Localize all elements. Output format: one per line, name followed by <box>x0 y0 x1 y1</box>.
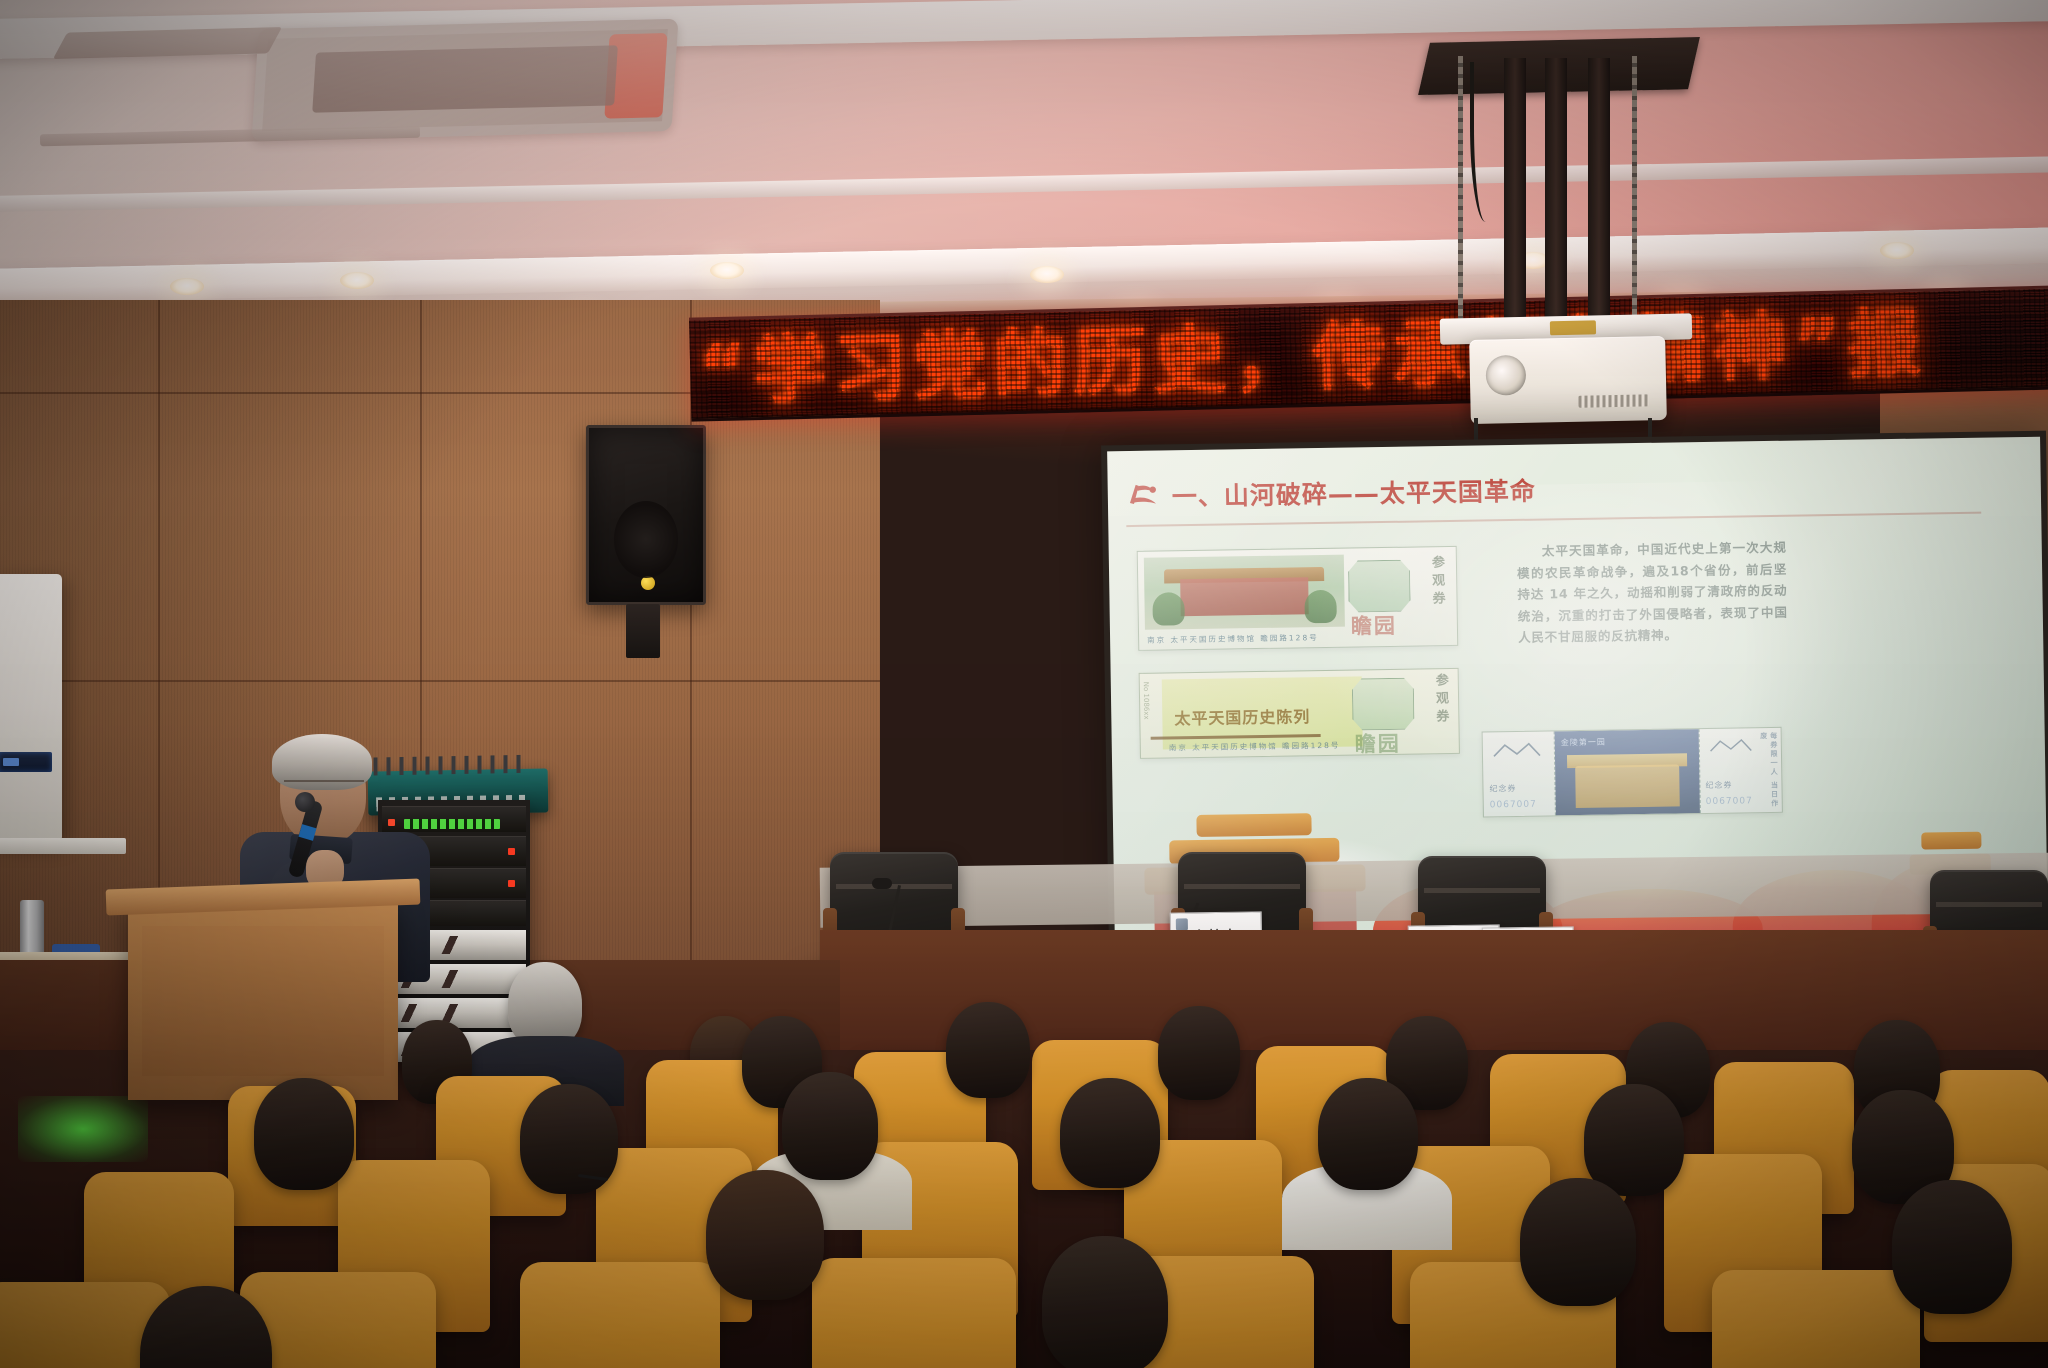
ceiling-seam <box>40 126 420 147</box>
projector-lens-icon <box>1485 355 1526 396</box>
lecture-hall-scene: “学习党的历史，传承红色精神”报 <box>0 0 2048 1368</box>
projector-lift-column <box>1504 58 1526 326</box>
slide-title: 一、山河破碎——太平天国革命 <box>1172 472 1537 514</box>
projector-lift-column <box>1545 58 1567 326</box>
pagoda-roof <box>1921 832 1981 850</box>
ticket-octagon-vignette <box>1352 678 1415 731</box>
lectern-front-panel <box>142 926 384 1076</box>
auditorium-seat[interactable] <box>812 1258 1016 1368</box>
ac-vent-blade <box>604 33 667 119</box>
status-led-icon <box>508 880 515 887</box>
microphone-capsule-icon <box>295 792 315 812</box>
projector-suspension-cable <box>1458 56 1463 326</box>
gate-shape <box>1180 577 1309 616</box>
panel-seam <box>158 300 160 980</box>
auditorium-seat[interactable] <box>1712 1270 1920 1368</box>
tree-shape <box>1152 592 1185 626</box>
downlight-icon <box>710 262 744 279</box>
museum-logo-icon <box>1491 740 1543 759</box>
status-led-icon <box>508 848 515 855</box>
ticket-script-label: 太平天国历史陈列 <box>1174 703 1310 729</box>
audience-head <box>946 1002 1030 1098</box>
lectern-podium <box>128 900 398 1100</box>
ticket-octagon-vignette <box>1348 560 1411 613</box>
downlight-icon <box>1880 242 1914 259</box>
wall-water-boiler[interactable] <box>0 574 62 842</box>
presenter-glasses-icon <box>284 780 364 794</box>
microphone-capsule-icon <box>872 878 892 889</box>
audience-head <box>1892 1180 2012 1314</box>
ticket-caption: 南京 太平天国历史博物馆 瞻园路128号 <box>1169 740 1341 754</box>
ticket-big-label: 瞻园 <box>1351 610 1397 641</box>
downlight-icon <box>340 272 374 289</box>
audience-head <box>1520 1178 1636 1306</box>
taiping-history-exhibit-ticket: No 1086xx 太平天国历史陈列 南京 太平天国历史博物馆 瞻园路128号 … <box>1139 668 1460 759</box>
led-banner-text: “学习党的历史，传承红色精神”报 <box>697 296 1928 421</box>
projector-lift-column <box>1588 58 1610 326</box>
panel-seam <box>0 680 880 682</box>
ticket-photo-label: 金陵第一园 <box>1561 737 1606 749</box>
cpc-emblem-icon <box>1126 481 1160 512</box>
audience-head <box>782 1072 878 1180</box>
projector-vent <box>1578 394 1648 407</box>
water-boiler-display <box>0 752 52 772</box>
rack-unit-power-amp <box>382 998 526 1028</box>
museum-logo-icon <box>1708 736 1760 755</box>
ticket-side-panel: 瞻园 参观券 <box>1348 555 1449 639</box>
ceiling-reveal-upper <box>0 155 2048 212</box>
speaker-bracket <box>626 604 660 658</box>
pagoda-roof <box>1196 813 1311 837</box>
audience-head <box>1158 1006 1240 1100</box>
ceiling-mounted-projector <box>1469 336 1667 424</box>
cassette-air-conditioner <box>252 19 679 141</box>
tree-shape <box>1304 589 1337 623</box>
audience-head <box>1060 1078 1160 1188</box>
nameplate-logo-icon <box>1176 918 1188 930</box>
water-boiler-drip-tray <box>0 838 126 854</box>
audience-head <box>1584 1084 1684 1196</box>
audience-head <box>706 1170 824 1300</box>
ticket-photo <box>1144 555 1345 630</box>
slide-paragraph: 太平天国革命，中国近代史上第一次大规模的农民革命战争，遍及18个省份，前后坚持达… <box>1517 537 1789 649</box>
speaker-logo-icon <box>641 576 655 590</box>
ticket-big-label: 瞻园 <box>1355 728 1401 759</box>
ticket-vertical-label: 参观券 <box>1431 673 1451 727</box>
zhanyuan-admission-ticket: 南京 太平天国历史博物馆 瞻园路128号 瞻园 参观券 <box>1137 546 1459 651</box>
audience-head <box>1042 1236 1168 1368</box>
wall-mounted-loudspeaker <box>586 425 706 605</box>
ticket-side-panel: 瞻园 参观券 <box>1352 673 1453 757</box>
ticket-vertical-label: 参观券 <box>1427 555 1447 609</box>
ticket-side-code: No 1086xx <box>1142 682 1151 720</box>
downlight-icon <box>1030 266 1064 283</box>
ticket-caption: 南京 太平天国历史博物馆 瞻园路128号 <box>1147 632 1319 646</box>
downlight-icon <box>170 278 204 295</box>
projector-brand-badge <box>1550 320 1596 335</box>
projector-suspension-cable <box>1632 56 1637 328</box>
auditorium-seat[interactable] <box>520 1262 720 1368</box>
audience-head <box>1318 1078 1418 1190</box>
audience-head <box>254 1078 354 1190</box>
emergency-exit-sign <box>18 1096 148 1162</box>
slide-title-row: 一、山河破碎——太平天国革命 <box>1125 459 2023 519</box>
